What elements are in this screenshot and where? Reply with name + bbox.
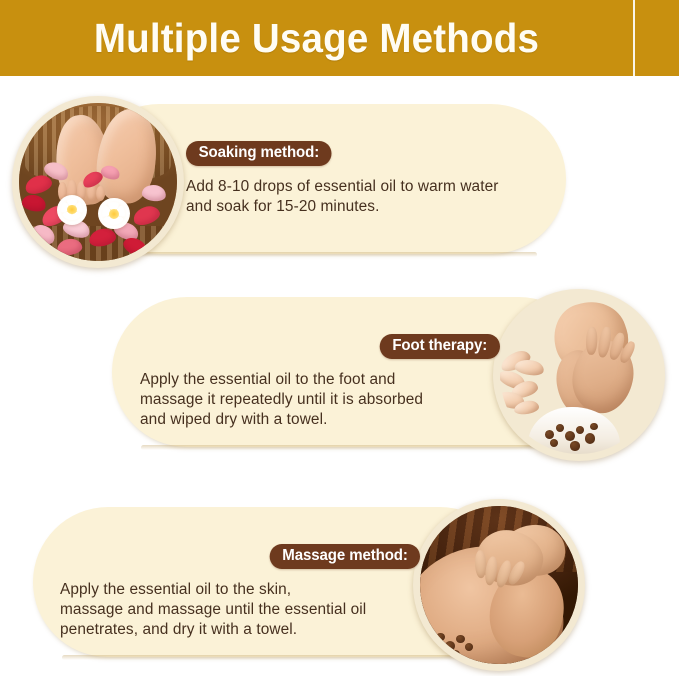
dried-flowers-graphic <box>500 350 560 423</box>
foot-therapy-text-block: Foot therapy: Apply the essential oil to… <box>140 334 500 430</box>
soaking-text-block: Soaking method: Add 8-10 drops of essent… <box>186 141 586 217</box>
massage-label-row: Massage method: <box>60 544 420 569</box>
foot-therapy-label-row: Foot therapy: <box>140 334 500 359</box>
header-divider <box>633 0 635 76</box>
rose-petals-graphic <box>19 103 177 261</box>
massage-photo <box>413 499 585 671</box>
foot-therapy-photo <box>493 289 665 461</box>
soaking-label: Soaking method: <box>186 141 332 166</box>
massage-label: Massage method: <box>269 544 420 569</box>
spices-graphic <box>541 419 607 454</box>
soaking-label-row: Soaking method: <box>186 141 586 166</box>
page-header: Multiple Usage Methods <box>0 0 679 76</box>
page-title: Multiple Usage Methods <box>19 0 614 76</box>
massage-stones-graphic <box>423 626 486 661</box>
massage-text-block: Massage method: Apply the essential oil … <box>60 544 420 640</box>
massage-body: Apply the essential oil to the skin, mas… <box>60 580 420 641</box>
soaking-photo <box>12 96 184 268</box>
foot-therapy-label: Foot therapy: <box>380 334 500 359</box>
foot-therapy-body: Apply the essential oil to the foot and … <box>140 370 500 431</box>
soaking-body: Add 8-10 drops of essential oil to warm … <box>186 177 586 218</box>
